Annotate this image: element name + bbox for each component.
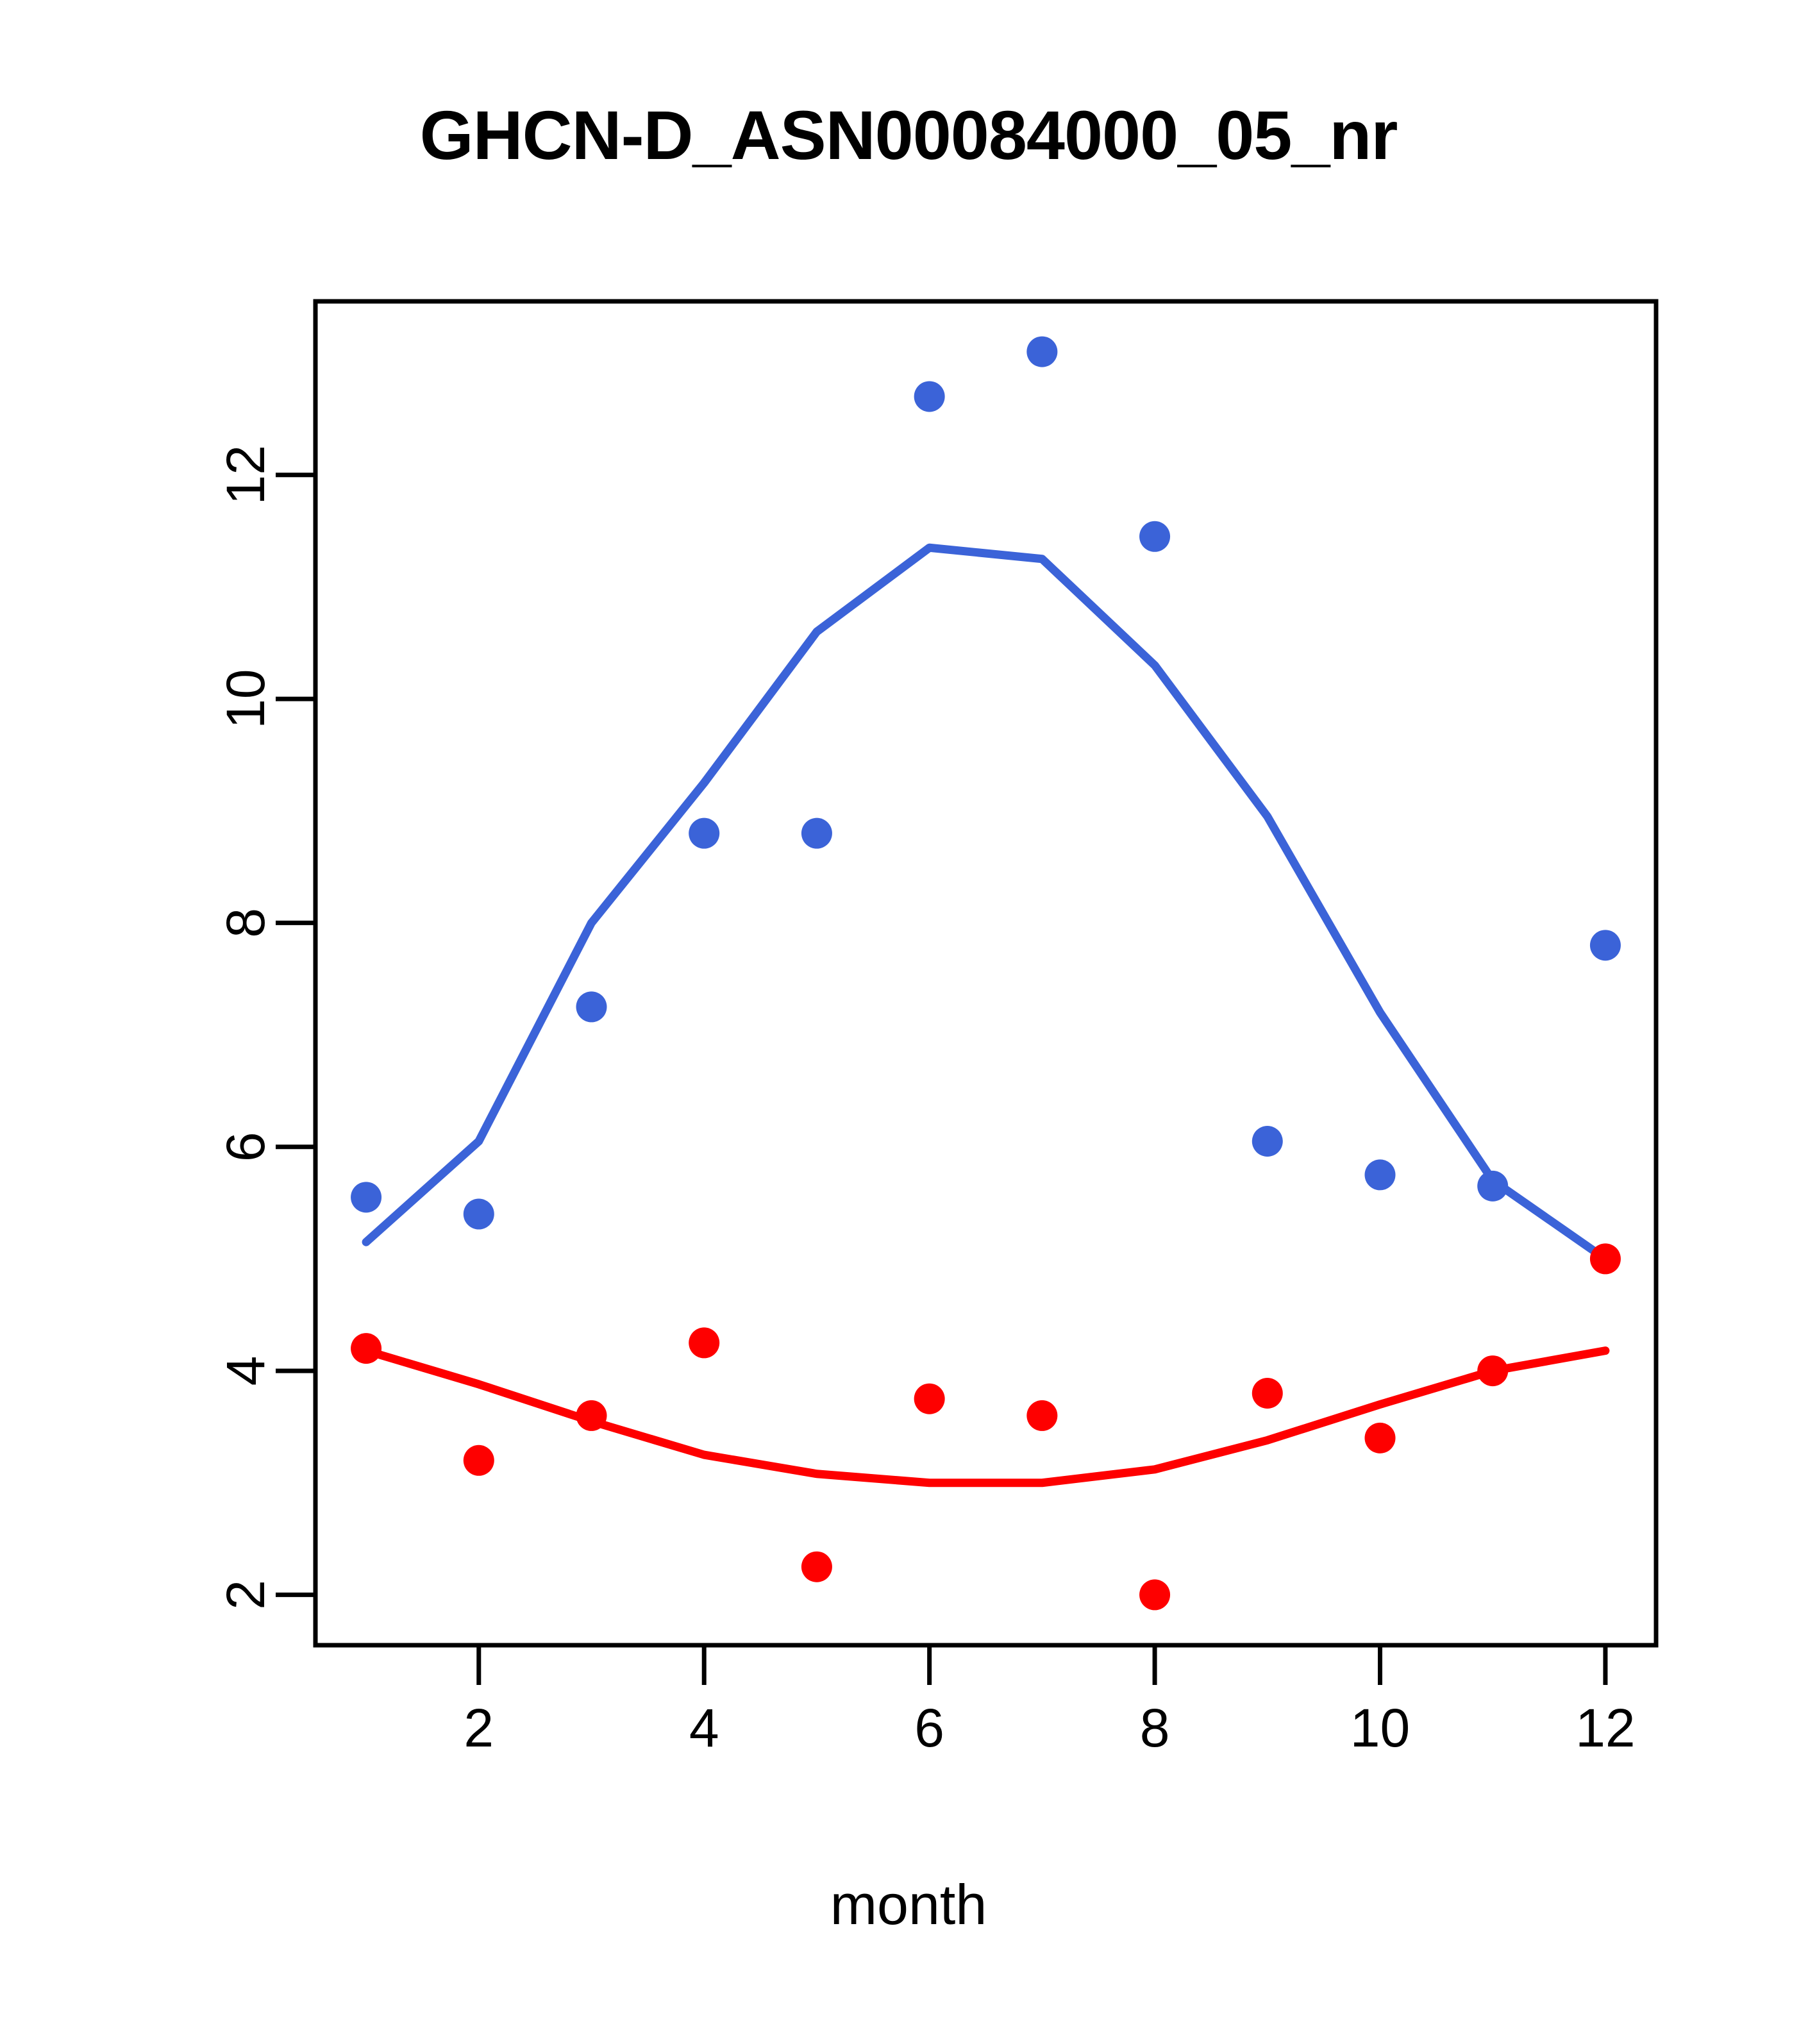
x-tick-label: 6	[914, 1698, 944, 1758]
series-line-blue-fit-line	[366, 548, 1605, 1259]
data-point	[1139, 521, 1170, 552]
data-point	[1365, 1159, 1396, 1190]
data-point	[351, 1333, 381, 1364]
data-point	[1477, 1171, 1508, 1202]
data-point	[576, 1400, 607, 1431]
data-point	[1252, 1126, 1283, 1157]
data-point	[1365, 1423, 1396, 1453]
x-tick-label: 4	[689, 1698, 719, 1758]
y-tick-label: 2	[215, 1580, 276, 1610]
data-point	[576, 991, 607, 1022]
data-point	[1477, 1355, 1508, 1386]
data-point	[1139, 1579, 1170, 1610]
y-tick-label: 4	[215, 1356, 276, 1386]
data-point	[689, 818, 719, 849]
x-tick-label: 10	[1350, 1698, 1410, 1758]
x-tick-label: 2	[464, 1698, 494, 1758]
data-point	[801, 1552, 832, 1582]
data-point	[464, 1199, 494, 1230]
data-point	[1590, 930, 1621, 960]
data-point	[464, 1445, 494, 1476]
y-tick-label: 10	[215, 669, 276, 728]
x-tick-label: 12	[1575, 1698, 1635, 1758]
data-point	[1026, 337, 1057, 367]
data-point	[801, 818, 832, 849]
series-line-red-fit-line	[366, 1351, 1605, 1483]
chart-canvas: GHCN-D_ASN00084000_05_nr 246810122468101…	[0, 0, 1817, 2044]
data-point	[689, 1327, 719, 1358]
data-point	[351, 1182, 381, 1212]
data-point	[914, 381, 945, 412]
y-tick-label: 8	[215, 908, 276, 938]
plot-border	[315, 301, 1656, 1645]
y-tick-label: 6	[215, 1132, 276, 1162]
data-point	[1026, 1400, 1057, 1431]
y-tick-label: 12	[215, 445, 276, 505]
series-group	[351, 337, 1621, 1611]
data-point	[914, 1384, 945, 1414]
data-point	[1590, 1243, 1621, 1274]
data-point	[1252, 1378, 1283, 1409]
x-tick-label: 8	[1140, 1698, 1170, 1758]
x-axis-title: month	[0, 1872, 1817, 1938]
plot-area: 2468101224681012	[0, 0, 1817, 2044]
